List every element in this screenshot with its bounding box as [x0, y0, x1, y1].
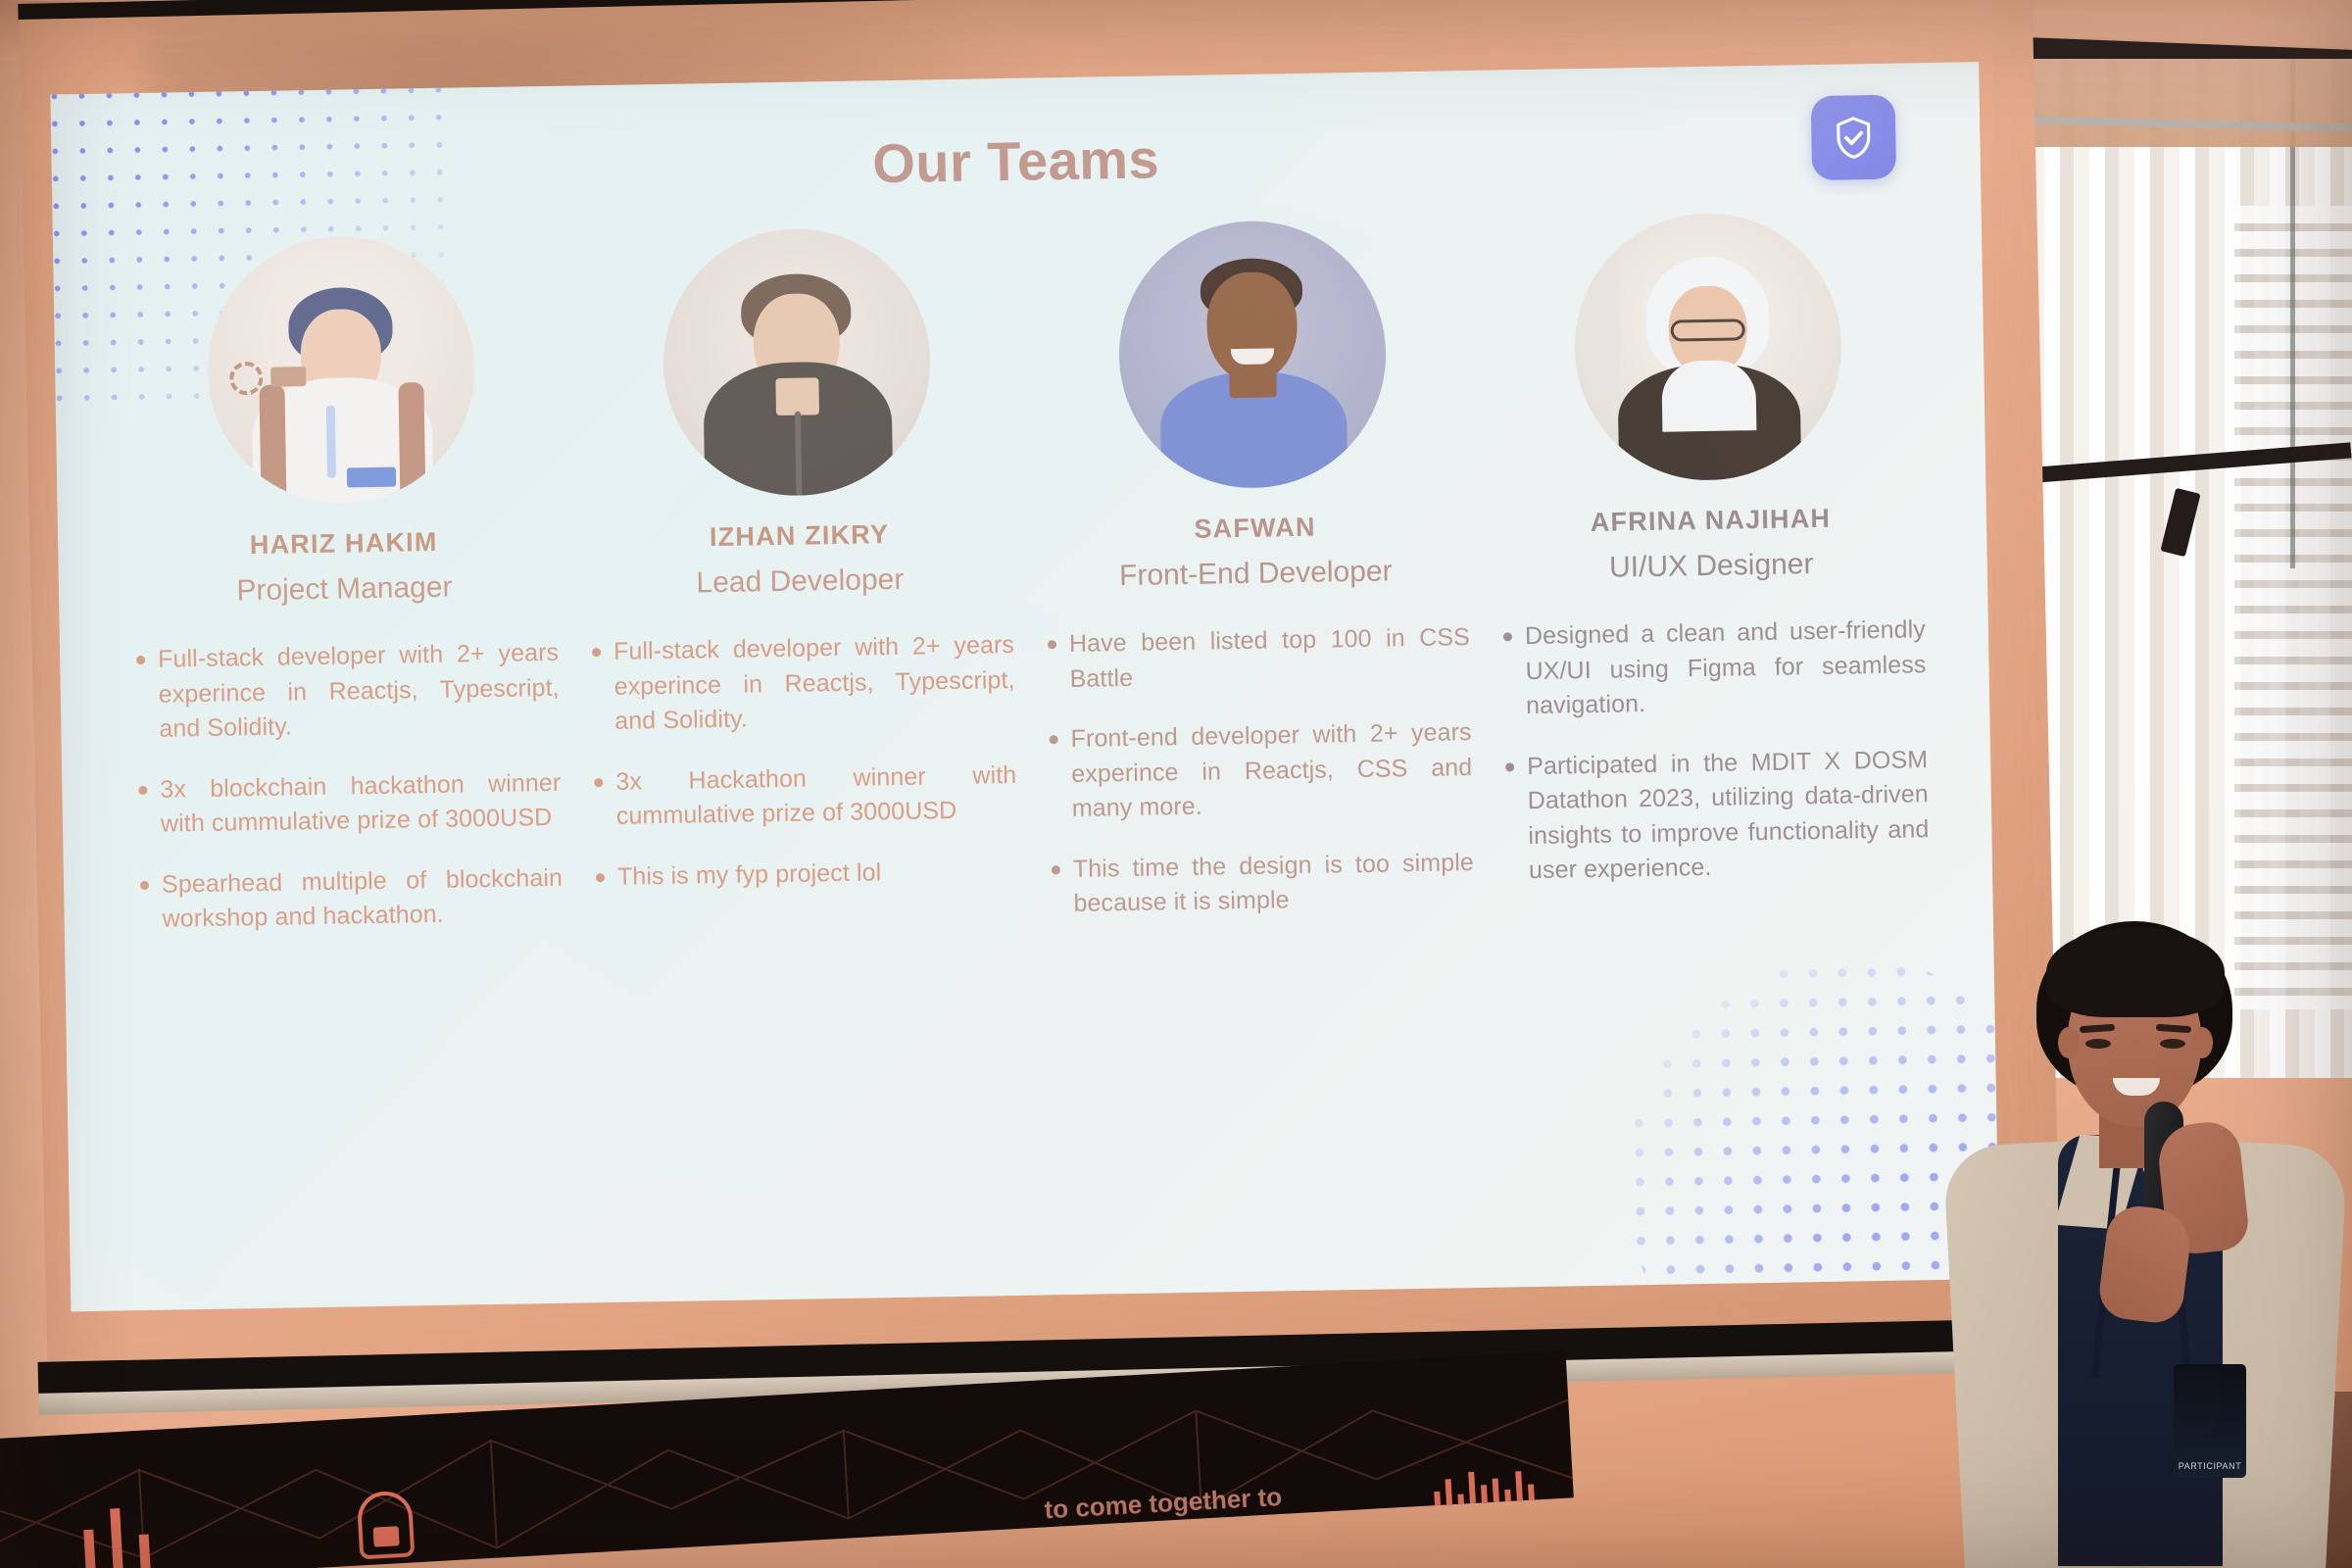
list-item: This time the design is too simple becau… [1048, 846, 1475, 922]
team-member-card: IZHAN ZIKRY Lead Developer Full-stack de… [577, 225, 1023, 955]
member-name: HARIZ HAKIM [250, 527, 438, 561]
member-bullets: Full-stack developer with 2+ years exper… [584, 628, 1023, 920]
eye-right [2160, 1039, 2185, 1049]
badge-label: PARTICIPANT [2179, 1461, 2242, 1471]
member-name: SAFWAN [1194, 513, 1316, 545]
hand-lower [2096, 1202, 2193, 1326]
presenter: PARTICIPANT [1921, 921, 2352, 1568]
list-item: Participated in the MDIT X DOSM Datathon… [1501, 743, 1930, 889]
list-item: Have been listed top 100 in CSS Battle [1044, 620, 1471, 697]
team-grid: HARIZ HAKIM Project Manager Full-stack d… [122, 210, 1935, 963]
banner-equalizer-graphic [1433, 1469, 1535, 1506]
list-item: Spearhead multiple of blockchain worksho… [136, 860, 563, 937]
avatar [1572, 212, 1843, 483]
presentation-slide: 2023 Our Teams [50, 62, 1999, 1311]
list-item: Full-stack developer with 2+ years exper… [588, 628, 1016, 740]
team-member-card: HARIZ HAKIM Project Manager Full-stack d… [122, 233, 567, 963]
badge-lanyard-card: PARTICIPANT [2174, 1364, 2246, 1478]
curtain-valance [1999, 59, 2352, 147]
screenshot-stage: 2023 Our Teams [0, 0, 2352, 1568]
list-item: Designed a clean and user-friendly UX/UI… [1499, 612, 1928, 724]
avatar [205, 234, 476, 506]
banner-bars [82, 1506, 151, 1568]
avatar [661, 226, 932, 498]
hair-fringe [2046, 927, 2225, 1017]
avatar [1116, 219, 1388, 490]
member-role: UI/UX Designer [1609, 548, 1814, 585]
list-item: Full-stack developer with 2+ years exper… [132, 636, 561, 748]
member-bullets: Designed a clean and user-friendly UX/UI… [1495, 612, 1935, 914]
list-item: 3x blockchain hackathon winner with cumm… [134, 765, 562, 842]
list-item: Front-end developer with 2+ years experi… [1045, 715, 1473, 827]
team-member-card: SAFWAN Front-End Developer Have been lis… [1033, 218, 1479, 948]
member-name: IZHAN ZIKRY [710, 519, 890, 553]
projector-screen: 2023 Our Teams [18, 0, 2069, 1480]
member-bullets: Have been listed top 100 in CSS Battle F… [1040, 620, 1479, 948]
member-role: Project Manager [236, 571, 453, 609]
member-name: AFRINA NAJIHAH [1591, 504, 1832, 538]
eye-left [2085, 1039, 2111, 1049]
ear-left [2058, 1027, 2080, 1058]
ear-right [2191, 1027, 2213, 1058]
member-bullets: Full-stack developer with 2+ years exper… [128, 636, 567, 963]
screen-canvas: 2023 Our Teams [19, 0, 2062, 1401]
member-role: Lead Developer [696, 563, 904, 601]
team-member-card: AFRINA NAJIHAH UI/UX Designer Designed a… [1489, 210, 1935, 940]
list-item: 3x Hackathon winner with cummulative pri… [590, 758, 1017, 834]
list-item: This is my fyp project lol [592, 853, 1019, 895]
banner-logo-icon [357, 1490, 416, 1559]
member-role: Front-End Developer [1119, 555, 1393, 593]
